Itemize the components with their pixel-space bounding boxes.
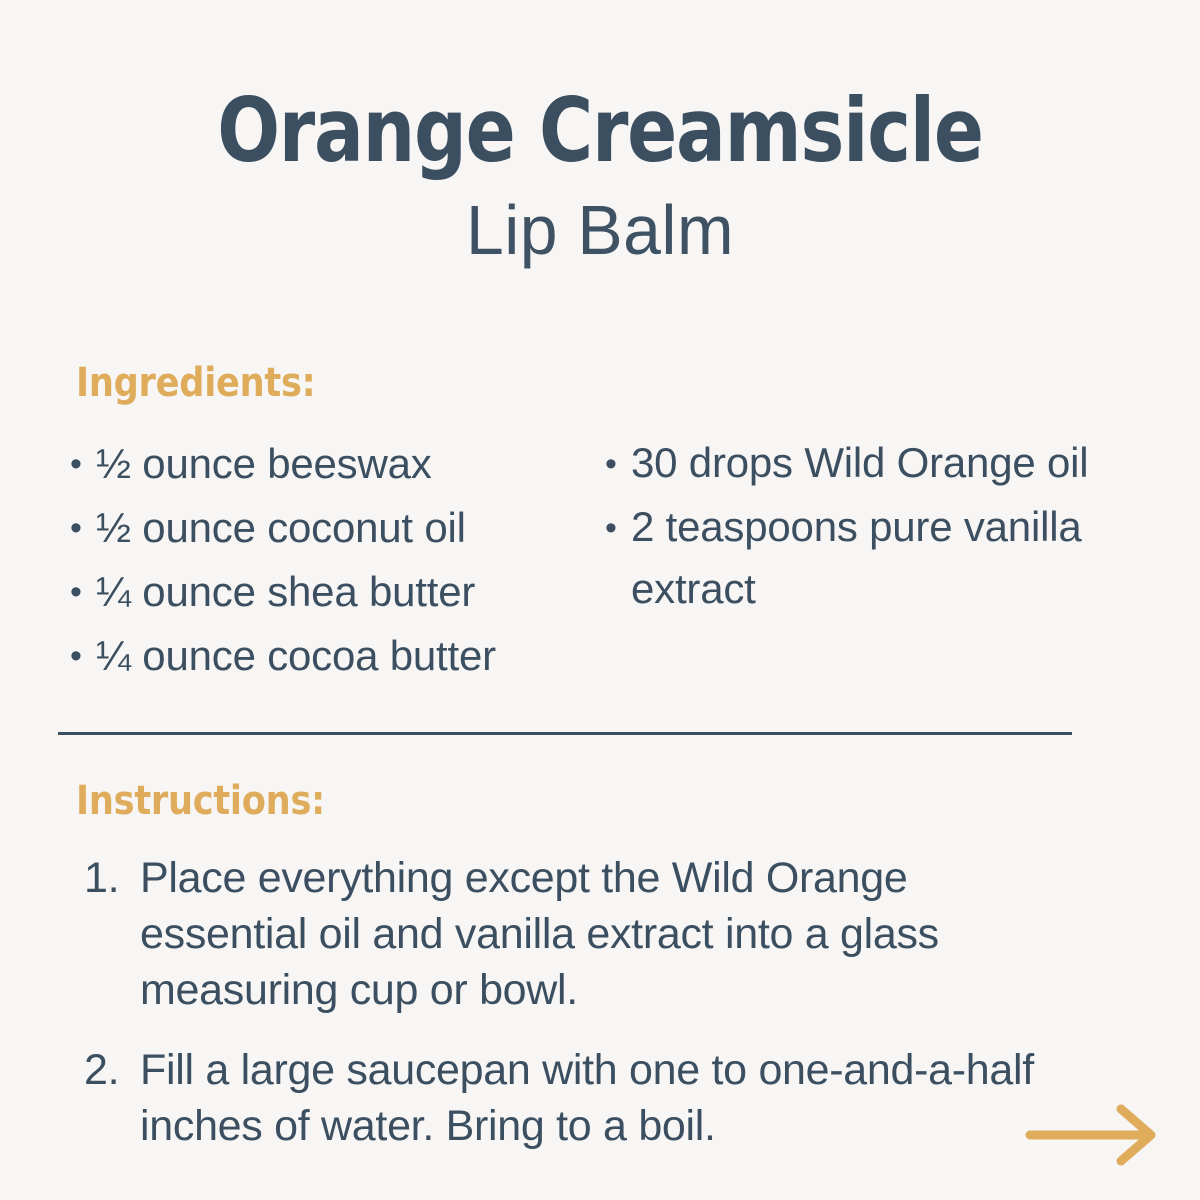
list-item: • ½ ounce beeswax (70, 432, 590, 496)
page-title: Orange Creamsicle (96, 84, 1104, 177)
bullet-icon: • (605, 496, 631, 560)
list-item: • ½ ounce coconut oil (70, 496, 590, 560)
bullet-icon: • (70, 496, 96, 560)
ingredients-heading-wrap: Ingredients: (76, 360, 348, 406)
step-text: Fill a large saucepan with one to one-an… (140, 1042, 1080, 1154)
instructions-heading: Instructions: (76, 778, 325, 824)
ingredients-column-right: • 30 drops Wild Orange oil • 2 teaspoons… (605, 432, 1150, 620)
list-item: 1. Place everything except the Wild Oran… (84, 850, 1094, 1018)
next-arrow-button[interactable] (1024, 1102, 1164, 1168)
ingredient-text: ½ ounce coconut oil (96, 496, 590, 560)
ingredients-column-left: • ½ ounce beeswax • ½ ounce coconut oil … (70, 432, 590, 688)
ingredients-list: • ½ ounce beeswax • ½ ounce coconut oil … (70, 432, 1150, 688)
instructions-list: 1. Place everything except the Wild Oran… (84, 850, 1094, 1178)
instructions-heading-wrap: Instructions: (76, 778, 359, 824)
title-block: Orange Creamsicle Lip Balm (0, 84, 1200, 269)
list-item: • 30 drops Wild Orange oil (605, 432, 1150, 496)
step-number: 1. (84, 850, 140, 906)
list-item: • ¼ ounce shea butter (70, 560, 590, 624)
bullet-icon: • (70, 624, 96, 688)
section-divider (58, 732, 1072, 735)
bullet-icon: • (605, 432, 631, 496)
list-item: 2. Fill a large saucepan with one to one… (84, 1042, 1094, 1154)
ingredient-text: ¼ ounce shea butter (96, 560, 590, 624)
ingredient-text: ¼ ounce cocoa butter (96, 624, 590, 688)
recipe-card: Orange Creamsicle Lip Balm Ingredients: … (0, 0, 1200, 1200)
bullet-icon: • (70, 432, 96, 496)
list-item: • 2 teaspoons pure vanilla extract (605, 496, 1150, 620)
arrow-right-icon (1024, 1102, 1164, 1168)
step-text: Place everything except the Wild Orange … (140, 850, 1080, 1018)
ingredient-text: 2 teaspoons pure vanilla extract (631, 496, 1150, 620)
step-number: 2. (84, 1042, 140, 1098)
bullet-icon: • (70, 560, 96, 624)
list-item: • ¼ ounce cocoa butter (70, 624, 590, 688)
ingredient-text: 30 drops Wild Orange oil (631, 432, 1150, 494)
ingredients-heading: Ingredients: (76, 360, 315, 406)
ingredient-text: ½ ounce beeswax (96, 432, 590, 496)
page-subtitle: Lip Balm (18, 193, 1182, 269)
